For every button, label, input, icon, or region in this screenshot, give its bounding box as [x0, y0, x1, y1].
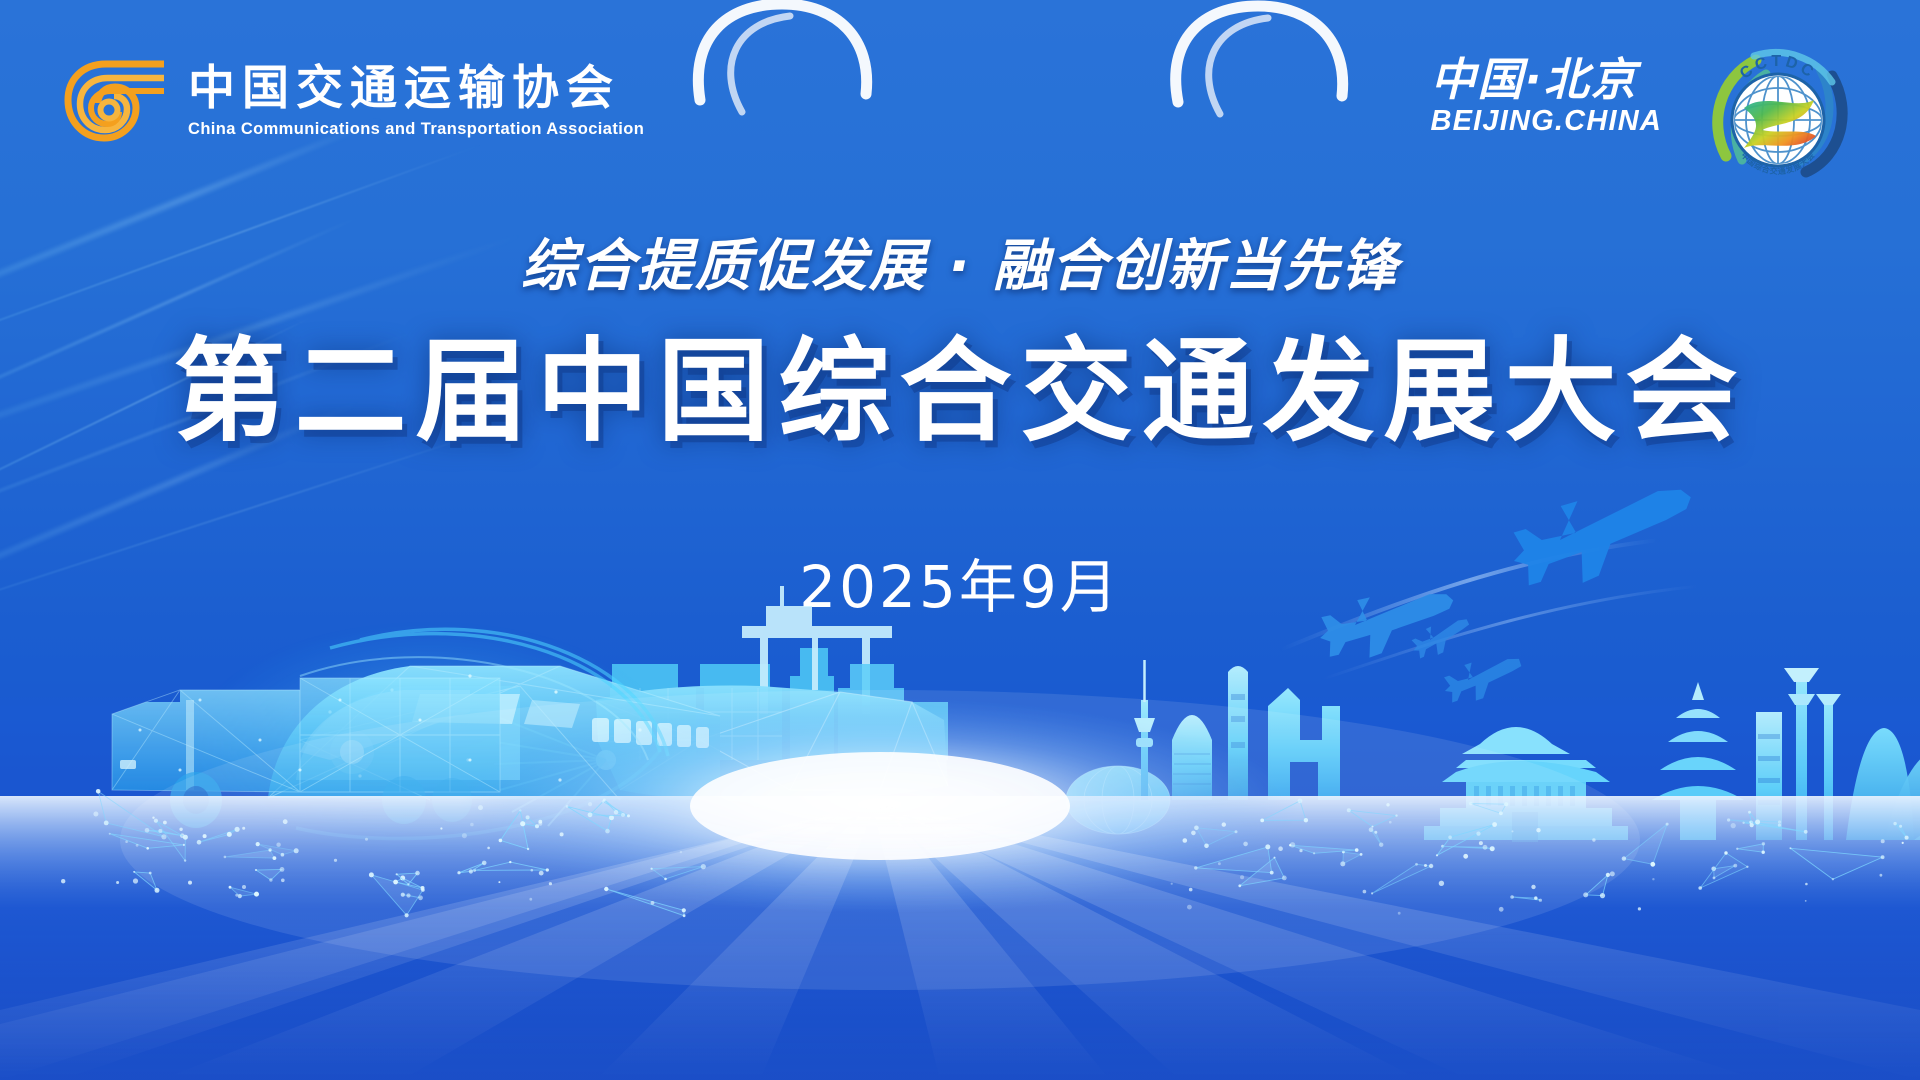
conference-poster: 中国交通运输协会 China Communications and Transp…	[0, 0, 1920, 1080]
location-city-cn: 中国·北京	[1430, 56, 1662, 103]
ccta-logo-lockup: 中国交通运输协会 China Communications and Transp…	[58, 52, 644, 152]
conference-title: 第二届中国综合交通发展大会	[0, 330, 1920, 455]
modern-tower-icon	[1784, 668, 1841, 840]
conference-date: 2025年9月	[0, 540, 1920, 624]
forbidden-city-icon	[1424, 727, 1628, 842]
poster-header: 中国交通运输协会 China Communications and Transp…	[0, 0, 1920, 190]
airplane-icon	[1439, 648, 1527, 708]
truck	[112, 678, 500, 828]
location-lockup: 中国·北京 BEIJING.CHINA	[1430, 56, 1662, 138]
association-name-en: China Communications and Transportation …	[188, 120, 644, 139]
high-speed-train	[190, 620, 720, 860]
cctv-headquarters-icon	[1268, 688, 1340, 800]
pagoda-icon	[1652, 682, 1744, 840]
cctdc-emblem-icon: CCTDC 中国综合交通发展大会	[1692, 30, 1858, 196]
location-city-en: BEIJING.CHINA	[1430, 105, 1662, 138]
ccta-spiral-logo-icon	[58, 52, 170, 152]
beijing-skyline	[1066, 660, 1920, 842]
conference-slogan: 综合提质促发展 · 融合创新当先锋	[0, 236, 1920, 298]
cctv-tower-icon	[1134, 660, 1155, 800]
constellation-cluster	[61, 789, 1909, 917]
association-name-cn: 中国交通运输协会	[188, 65, 644, 113]
